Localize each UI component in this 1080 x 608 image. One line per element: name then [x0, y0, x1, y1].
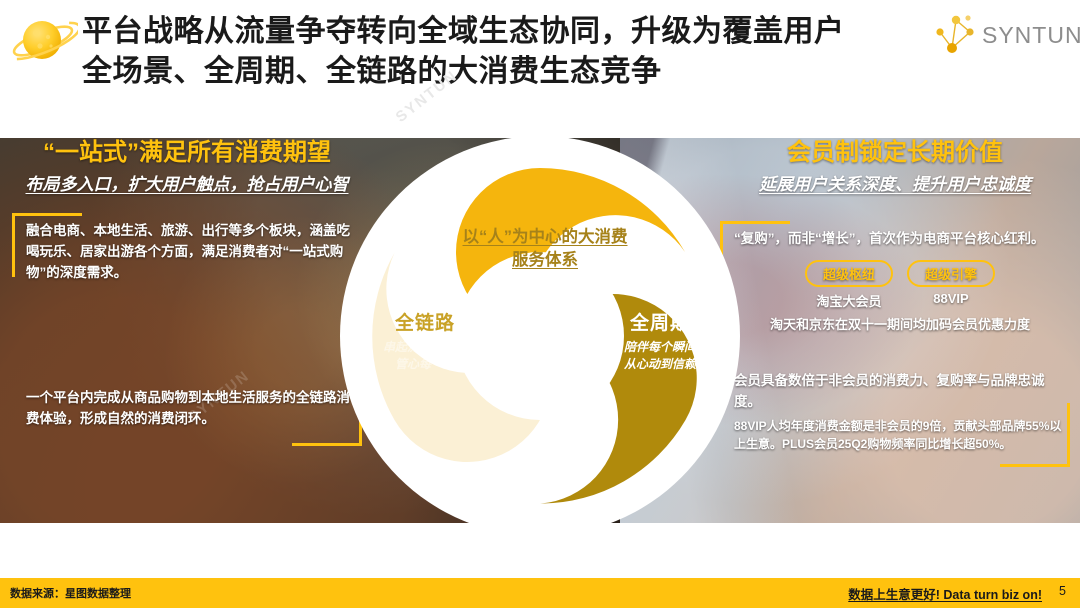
planet-saturn-icon — [8, 10, 78, 72]
footer-page-number: 5 — [1059, 584, 1066, 598]
right-panel-body1-bracket: “复购”，而非“增长”，首次作为电商平台核心红利。 超级枢纽 淘宝大会员 超级引… — [720, 221, 1070, 341]
lobe-title-right: 全周期 — [570, 308, 750, 335]
right-panel-subtitle: 延展用户关系深度、提升用户忠诚度 — [720, 174, 1070, 197]
lobe-label-right: 全周期 陪伴每个瞬间 从心动到信赖 — [570, 308, 750, 373]
badge-sublabel: 淘宝大会员 — [805, 291, 893, 310]
diagram-core-label: 以“人”为中心的大消费服务体系 — [455, 226, 635, 272]
lobe-desc-top: 购物无处不在，生活即触点 — [420, 149, 660, 166]
left-panel: “一站式”满足所有消费期望 布局多入口，扩大用户触点，抢占用户心智 融合电商、本… — [12, 138, 362, 523]
badge-pill: 超级枢纽 — [805, 260, 893, 287]
left-panel-body1-bracket: 融合电商、本地生活、旅游、出行等多个板块，涵盖吃喝玩乐、居家出游各个方面，满足消… — [12, 213, 362, 292]
left-panel-body1: 融合电商、本地生活、旅游、出行等多个板块，涵盖吃喝玩乐、居家出游各个方面，满足消… — [26, 221, 358, 284]
badge-item: 超级枢纽 淘宝大会员 — [805, 260, 893, 310]
badge-caption: 淘天和京东在双十一期间均加码会员优惠力度 — [734, 314, 1066, 333]
lobe-desc-right: 陪伴每个瞬间 从心动到信赖 — [570, 339, 750, 373]
lobe-title-top: 全场景 — [420, 138, 660, 145]
ecosystem-diagram: 全场景 购物无处不在，生活即触点 全周期 陪伴每个瞬间 从心动到信赖 全链路 串… — [320, 138, 760, 523]
bracket-right — [1067, 403, 1070, 467]
right-panel-title: 会员制锁定长期价值 — [720, 138, 1070, 168]
lobe-label-left: 全链路 串起流动的每一 管心每一步 — [340, 308, 510, 373]
slide: 平台战略从流量争夺转向全域生态协同，升级为覆盖用户全场景、全周期、全链路的大消费… — [0, 0, 1080, 608]
membership-badges: 超级枢纽 淘宝大会员 超级引擎 88VIP — [734, 260, 1066, 310]
badge-item: 超级引擎 88VIP — [907, 260, 995, 310]
right-panel-body2-bracket: 会员具备数倍于非会员的消费力、复购率与品牌忠诚度。 88VIP人均年度消费金额是… — [720, 363, 1070, 467]
lobe-desc-left: 串起流动的每一 管心每一步 — [340, 339, 510, 373]
lobe-title-left: 全链路 — [340, 308, 510, 335]
syntun-logo: SYNTUN — [930, 12, 1070, 60]
right-panel-body1: “复购”，而非“增长”，首次作为电商平台核心红利。 — [734, 229, 1066, 250]
content-band: SYNTUN “一站式”满足所有消费期望 布局多入口，扩大用户触点，抢占用户心智… — [0, 138, 1080, 523]
bracket-left — [12, 213, 15, 277]
badge-sublabel: 88VIP — [907, 291, 995, 306]
right-panel-body3: 88VIP人均年度消费金额是非会员的9倍，贡献头部品牌55%以上生意。PLUS会… — [734, 417, 1066, 453]
left-panel-title: “一站式”满足所有消费期望 — [12, 138, 362, 168]
left-panel-subtitle: 布局多入口，扩大用户触点，抢占用户心智 — [12, 174, 362, 197]
left-panel-body2-bracket: 一个平台内完成从商品购物到本地生活服务的全链路消费体验，形成自然的消费闭环。 — [12, 380, 362, 446]
logo-text: SYNTUN — [982, 22, 1080, 49]
bracket-bottom-right — [1000, 464, 1070, 467]
right-panel: 会员制锁定长期价值 延展用户关系深度、提升用户忠诚度 “复购”，而非“增长”，首… — [720, 138, 1070, 523]
syntun-network-logo-icon — [930, 12, 980, 58]
badge-pill: 超级引擎 — [907, 260, 995, 287]
bracket-top-left — [12, 213, 82, 216]
page-title: 平台战略从流量争夺转向全域生态协同，升级为覆盖用户全场景、全周期、全链路的大消费… — [82, 12, 872, 92]
right-panel-body2: 会员具备数倍于非会员的消费力、复购率与品牌忠诚度。 — [734, 371, 1066, 413]
slide-header: 平台战略从流量争夺转向全域生态协同，升级为覆盖用户全场景、全周期、全链路的大消费… — [0, 0, 1080, 130]
left-panel-body2: 一个平台内完成从商品购物到本地生活服务的全链路消费体验，形成自然的消费闭环。 — [26, 388, 358, 430]
slide-footer: 数据来源：星图数据整理 数据上生意更好! Data turn biz on! 5 — [0, 578, 1080, 608]
footer-source: 数据来源：星图数据整理 — [10, 585, 131, 601]
lobe-label-top: 全场景 购物无处不在，生活即触点 — [420, 138, 660, 166]
footer-tagline: 数据上生意更好! Data turn biz on! — [848, 584, 1042, 603]
